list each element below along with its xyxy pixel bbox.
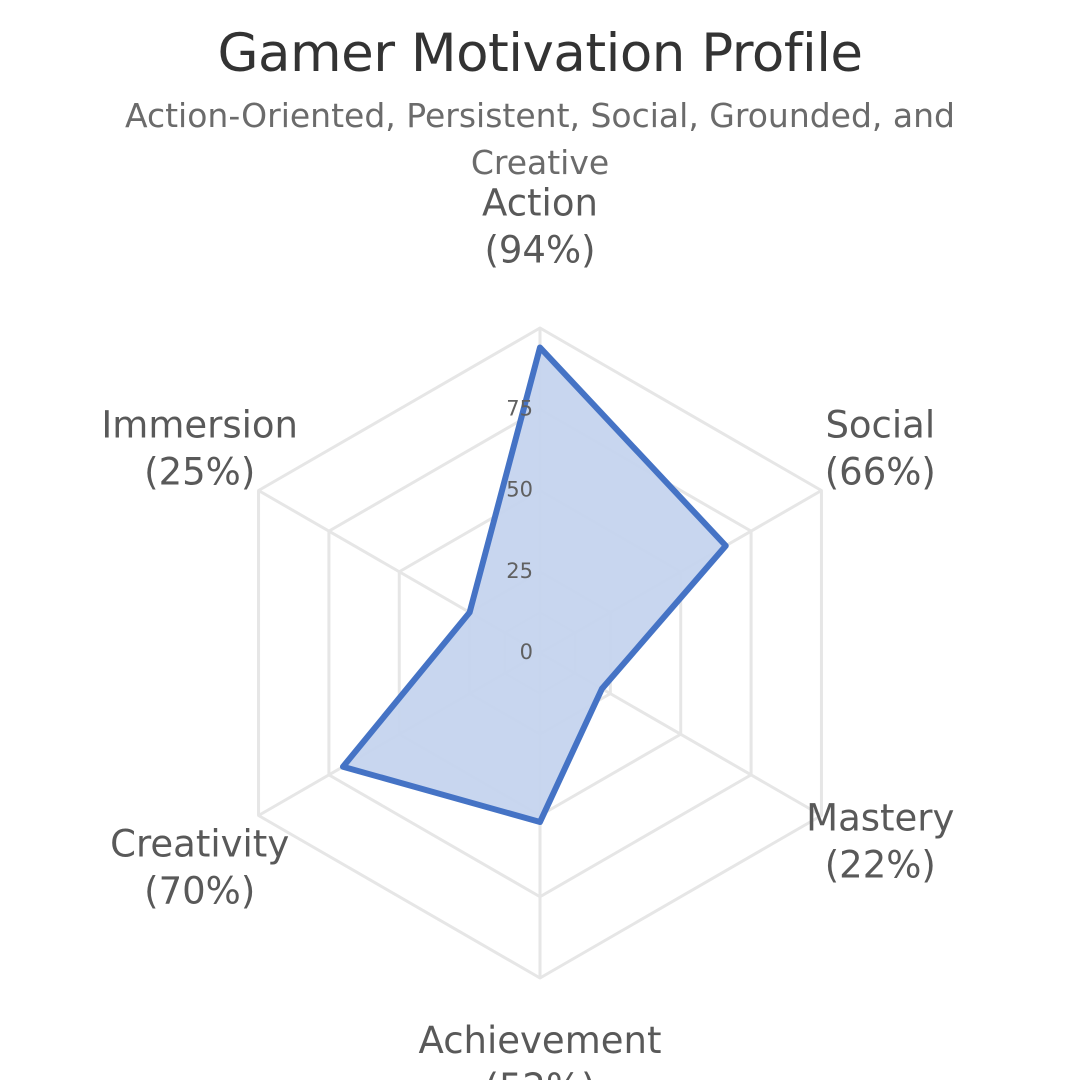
axis-label-line: (52%) [484, 1066, 595, 1080]
axis-label-line: Social [825, 404, 935, 447]
axis-label-line: Mastery [806, 797, 954, 840]
radial-tick-label: 50 [506, 478, 533, 502]
axis-label-social: Social(66%) [825, 404, 936, 494]
axis-label-achievement: Achievement(52%) [419, 1019, 662, 1080]
axis-label-line: (70%) [144, 870, 255, 913]
axis-label-line: (66%) [825, 451, 936, 494]
axis-label-action: Action(94%) [482, 181, 598, 271]
axis-label-line: Achievement [419, 1019, 662, 1062]
radar-chart-figure: Gamer Motivation Profile Action-Oriented… [0, 0, 1080, 1080]
axis-label-mastery: Mastery(22%) [806, 797, 954, 887]
radial-tick-label: 0 [520, 640, 533, 664]
axis-label-creativity: Creativity(70%) [110, 823, 289, 913]
axis-label-immersion: Immersion(25%) [101, 404, 298, 494]
radial-tick-label: 25 [506, 559, 533, 583]
axis-label-line: (25%) [144, 451, 255, 494]
axis-label-line: Immersion [101, 404, 298, 447]
axis-label-line: Action [482, 181, 598, 224]
axis-label-line: (22%) [825, 844, 936, 887]
axis-label-line: (94%) [484, 228, 595, 271]
axis-label-line: Creativity [110, 823, 289, 866]
radial-tick-label: 75 [506, 396, 533, 420]
radar-plot-area: 0255075 Action(94%)Social(66%)Mastery(22… [0, 0, 1080, 1080]
